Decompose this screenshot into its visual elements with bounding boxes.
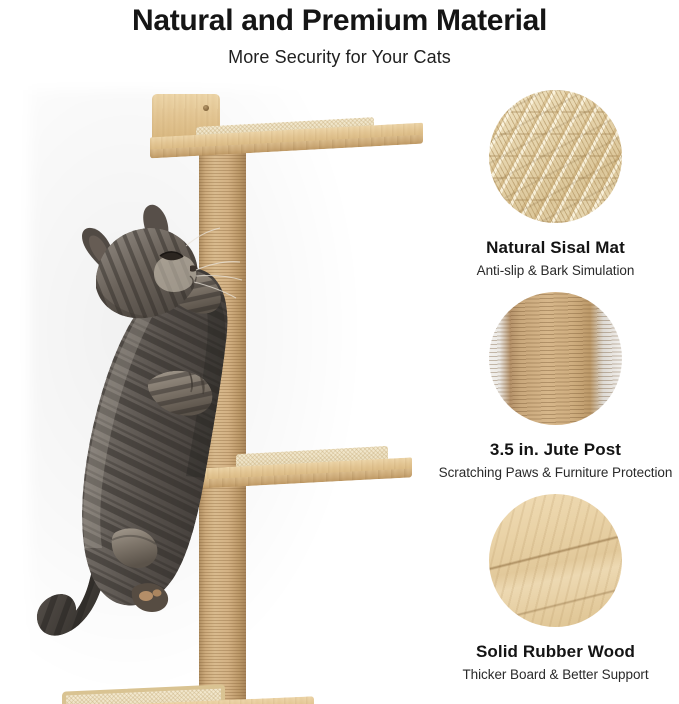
product-photo <box>0 80 432 704</box>
tabby-cat <box>0 80 432 704</box>
feature-item-rubber-wood: Solid Rubber Wood Thicker Board & Better… <box>432 494 679 682</box>
feature-list: Natural Sisal Mat Anti-slip & Bark Simul… <box>432 80 679 704</box>
jute-post-swatch-icon <box>489 292 622 425</box>
feature-subtitle: Anti-slip & Bark Simulation <box>432 263 679 278</box>
feature-item-sisal-mat: Natural Sisal Mat Anti-slip & Bark Simul… <box>432 90 679 278</box>
feature-title: Solid Rubber Wood <box>432 642 679 662</box>
rubber-wood-swatch-icon <box>489 494 622 627</box>
feature-subtitle: Thicker Board & Better Support <box>432 667 679 682</box>
page-title: Natural and Premium Material <box>0 4 679 37</box>
feature-title: 3.5 in. Jute Post <box>432 440 679 460</box>
feature-title: Natural Sisal Mat <box>432 238 679 258</box>
sisal-weave-swatch-icon <box>489 90 622 223</box>
header: Natural and Premium Material More Securi… <box>0 0 679 68</box>
feature-item-jute-post: 3.5 in. Jute Post Scratching Paws & Furn… <box>432 292 679 480</box>
content-area: Natural Sisal Mat Anti-slip & Bark Simul… <box>0 80 679 704</box>
page-subtitle: More Security for Your Cats <box>0 47 679 68</box>
feature-subtitle: Scratching Paws & Furniture Protection <box>432 465 679 480</box>
